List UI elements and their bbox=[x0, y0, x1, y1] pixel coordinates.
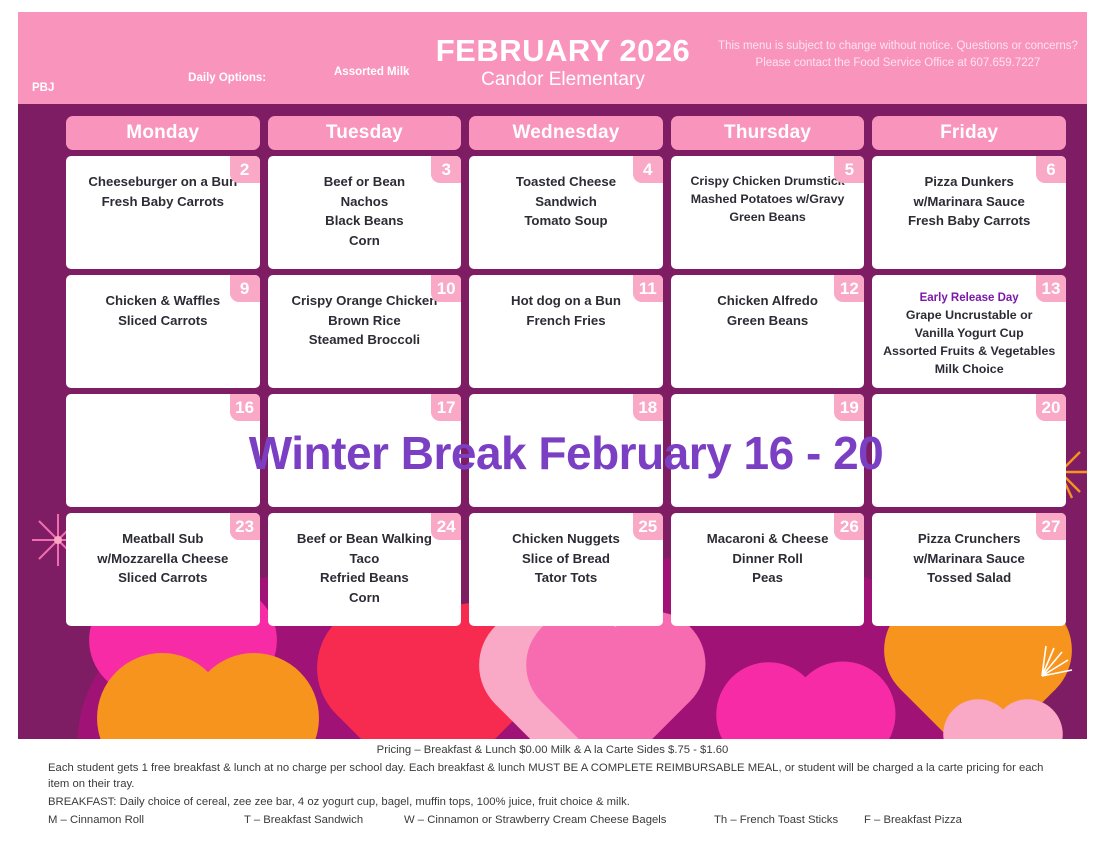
menu-items: Chicken Alfredo Green Beans bbox=[677, 291, 859, 330]
menu-item: Chicken Alfredo bbox=[677, 291, 859, 311]
day-cell-6[interactable]: 6 Pizza Dunkers w/Marinara Sauce Fresh B… bbox=[872, 156, 1066, 269]
date-badge: 16 bbox=[230, 394, 260, 421]
menu-item: w/Marinara Sauce bbox=[878, 549, 1060, 569]
menu-item: Refried Beans bbox=[274, 568, 456, 588]
date-badge: 6 bbox=[1036, 156, 1066, 183]
date-badge: 12 bbox=[834, 275, 864, 302]
page-title: FEBRUARY 2026 Candor Elementary bbox=[418, 34, 708, 92]
menu-item: Assorted Fruits & Vegetables bbox=[878, 342, 1060, 360]
date-badge: 4 bbox=[633, 156, 663, 183]
menu-item: w/Mozzarella Cheese bbox=[72, 549, 254, 569]
menu-item: Beef or Bean Walking bbox=[274, 529, 456, 549]
menu-item: Green Beans bbox=[677, 311, 859, 331]
day-header-monday: Monday bbox=[66, 116, 260, 150]
menu-items: Crispy Orange Chicken Brown Rice Steamed… bbox=[274, 291, 456, 350]
breakfast-wednesday: W – Cinnamon or Strawberry Cream Cheese … bbox=[404, 812, 714, 828]
month-title: FEBRUARY 2026 bbox=[418, 34, 708, 68]
day-cell-20[interactable]: 20 bbox=[872, 394, 1066, 507]
menu-item: Grape Uncrustable or bbox=[878, 306, 1060, 324]
header-left-options: PBJ Yogurt Cup bbox=[32, 48, 94, 104]
menu-item: Peas bbox=[677, 568, 859, 588]
week-row-1: 2 Cheeseburger on a Bun Fresh Baby Carro… bbox=[66, 156, 1066, 269]
date-badge: 10 bbox=[431, 275, 461, 302]
date-badge: 5 bbox=[834, 156, 864, 183]
day-cell-10[interactable]: 10 Crispy Orange Chicken Brown Rice Stea… bbox=[268, 275, 462, 388]
menu-item: Taco bbox=[274, 549, 456, 569]
day-header-row: Monday Tuesday Wednesday Thursday Friday bbox=[66, 116, 1066, 150]
menu-item: Corn bbox=[274, 588, 456, 608]
school-name: Candor Elementary bbox=[418, 68, 708, 92]
date-badge: 3 bbox=[431, 156, 461, 183]
menu-footer: Pricing – Breakfast & Lunch $0.00 Milk &… bbox=[0, 742, 1105, 828]
menu-item: Macaroni & Cheese bbox=[677, 529, 859, 549]
footer-breakfast: BREAKFAST: Daily choice of cereal, zee z… bbox=[0, 794, 1105, 810]
menu-item: Brown Rice bbox=[274, 311, 456, 331]
day-header-tuesday: Tuesday bbox=[268, 116, 462, 150]
menu-item: Steamed Broccoli bbox=[274, 330, 456, 350]
date-badge: 9 bbox=[230, 275, 260, 302]
menu-items: Chicken & Waffles Sliced Carrots bbox=[72, 291, 254, 330]
menu-item: Milk Choice bbox=[878, 360, 1060, 378]
menu-items: Pizza Crunchers w/Marinara Sauce Tossed … bbox=[878, 529, 1060, 588]
day-header-wednesday: Wednesday bbox=[469, 116, 663, 150]
menu-item: Tator Tots bbox=[475, 568, 657, 588]
menu-items: Beef or Bean Walking Taco Refried Beans … bbox=[274, 529, 456, 607]
menu-item: Tossed Salad bbox=[878, 568, 1060, 588]
date-badge: 19 bbox=[834, 394, 864, 421]
menu-items: Grape Uncrustable or Vanilla Yogurt Cup … bbox=[878, 306, 1060, 378]
header-option-pbj: PBJ bbox=[32, 80, 94, 96]
day-cell-5[interactable]: 5 Crispy Chicken Drumstick Mashed Potato… bbox=[671, 156, 865, 269]
date-badge: 11 bbox=[633, 275, 663, 302]
day-cell-25[interactable]: 25 Chicken Nuggets Slice of Bread Tator … bbox=[469, 513, 663, 626]
day-cell-26[interactable]: 26 Macaroni & Cheese Dinner Roll Peas bbox=[671, 513, 865, 626]
day-cell-27[interactable]: 27 Pizza Crunchers w/Marinara Sauce Toss… bbox=[872, 513, 1066, 626]
date-badge: 27 bbox=[1036, 513, 1066, 540]
menu-item: Beef or Bean bbox=[274, 172, 456, 192]
menu-item: Sandwich bbox=[475, 192, 657, 212]
date-badge: 26 bbox=[834, 513, 864, 540]
breakfast-tuesday: T – Breakfast Sandwich bbox=[244, 812, 404, 828]
heart-orange-1 bbox=[116, 672, 300, 739]
menu-item: Green Beans bbox=[677, 208, 859, 226]
menu-item: Sliced Carrots bbox=[72, 568, 254, 588]
menu-item: Slice of Bread bbox=[475, 549, 657, 569]
menu-item: Vanilla Yogurt Cup bbox=[878, 324, 1060, 342]
date-badge: 13 bbox=[1036, 275, 1066, 302]
menu-item: Pizza Dunkers bbox=[878, 172, 1060, 192]
menu-items: Macaroni & Cheese Dinner Roll Peas bbox=[677, 529, 859, 588]
menu-item: Crispy Orange Chicken bbox=[274, 291, 456, 311]
day-header-friday: Friday bbox=[872, 116, 1066, 150]
heart-pink-2 bbox=[541, 627, 689, 739]
date-badge: 2 bbox=[230, 156, 260, 183]
week-row-2: 9 Chicken & Waffles Sliced Carrots 10 Cr… bbox=[66, 275, 1066, 388]
menu-item: Fresh Baby Carrots bbox=[878, 211, 1060, 231]
footer-breakfast-days: M – Cinnamon Roll T – Breakfast Sandwich… bbox=[0, 812, 1105, 828]
day-cell-24[interactable]: 24 Beef or Bean Walking Taco Refried Bea… bbox=[268, 513, 462, 626]
menu-items: Meatball Sub w/Mozzarella Cheese Sliced … bbox=[72, 529, 254, 588]
week-row-4: 23 Meatball Sub w/Mozzarella Cheese Slic… bbox=[66, 513, 1066, 626]
menu-items: Pizza Dunkers w/Marinara Sauce Fresh Bab… bbox=[878, 172, 1060, 231]
heart-pink-small bbox=[954, 710, 1053, 739]
early-release-note: Early Release Day bbox=[878, 291, 1060, 305]
day-cell-12[interactable]: 12 Chicken Alfredo Green Beans bbox=[671, 275, 865, 388]
heart-magenta-2 bbox=[731, 677, 879, 739]
day-cell-13[interactable]: 13 Early Release Day Grape Uncrustable o… bbox=[872, 275, 1066, 388]
menu-header: PBJ Yogurt Cup Daily Options: Assorted S… bbox=[18, 12, 1087, 104]
date-badge: 17 bbox=[431, 394, 461, 421]
date-badge: 24 bbox=[431, 513, 461, 540]
date-badge: 20 bbox=[1036, 394, 1066, 421]
menu-item: Sliced Carrots bbox=[72, 311, 254, 331]
day-header-thursday: Thursday bbox=[671, 116, 865, 150]
daily-options-label: Daily Options: bbox=[130, 70, 324, 86]
breakfast-monday: M – Cinnamon Roll bbox=[48, 812, 244, 828]
menu-item: Pizza Crunchers bbox=[878, 529, 1060, 549]
day-cell-18[interactable]: 18 bbox=[469, 394, 663, 507]
menu-item: Hot dog on a Bun bbox=[475, 291, 657, 311]
sparkle-logo-icon bbox=[1036, 642, 1076, 682]
menu-item: w/Marinara Sauce bbox=[878, 192, 1060, 212]
footer-paragraph: Each student gets 1 free breakfast & lun… bbox=[0, 760, 1105, 792]
menu-item: Chicken & Waffles bbox=[72, 291, 254, 311]
day-cell-4[interactable]: 4 Toasted Cheese Sandwich Tomato Soup bbox=[469, 156, 663, 269]
header-milk-option: Assorted Milk bbox=[334, 64, 409, 80]
menu-page: PBJ Yogurt Cup Daily Options: Assorted S… bbox=[0, 0, 1105, 853]
menu-notice: This menu is subject to change without n… bbox=[718, 38, 1078, 72]
calendar-grid: Monday Tuesday Wednesday Thursday Friday… bbox=[66, 116, 1066, 632]
menu-item: Toasted Cheese bbox=[475, 172, 657, 192]
breakfast-friday: F – Breakfast Pizza bbox=[864, 812, 962, 828]
menu-item: Fresh Baby Carrots bbox=[72, 192, 254, 212]
day-cell-11[interactable]: 11 Hot dog on a Bun French Fries bbox=[469, 275, 663, 388]
week-row-3: 16 17 18 19 20 bbox=[66, 394, 1066, 507]
day-cell-2[interactable]: 2 Cheeseburger on a Bun Fresh Baby Carro… bbox=[66, 156, 260, 269]
menu-item: Nachos bbox=[274, 192, 456, 212]
day-cell-3[interactable]: 3 Beef or Bean Nachos Black Beans Corn bbox=[268, 156, 462, 269]
menu-item: French Fries bbox=[475, 311, 657, 331]
menu-item: Corn bbox=[274, 231, 456, 251]
menu-item: Cheeseburger on a Bun bbox=[72, 172, 254, 192]
menu-item: Mashed Potatoes w/Gravy bbox=[677, 190, 859, 208]
menu-item: Dinner Roll bbox=[677, 549, 859, 569]
menu-items: Hot dog on a Bun French Fries bbox=[475, 291, 657, 330]
menu-item: Crispy Chicken Drumstick bbox=[677, 172, 859, 190]
calendar-body: Monday Tuesday Wednesday Thursday Friday… bbox=[18, 104, 1087, 739]
day-cell-9[interactable]: 9 Chicken & Waffles Sliced Carrots bbox=[66, 275, 260, 388]
day-cell-16[interactable]: 16 bbox=[66, 394, 260, 507]
day-cell-23[interactable]: 23 Meatball Sub w/Mozzarella Cheese Slic… bbox=[66, 513, 260, 626]
menu-items: Chicken Nuggets Slice of Bread Tator Tot… bbox=[475, 529, 657, 588]
menu-item: Black Beans bbox=[274, 211, 456, 231]
menu-items: Cheeseburger on a Bun Fresh Baby Carrots bbox=[72, 172, 254, 211]
day-cell-17[interactable]: 17 bbox=[268, 394, 462, 507]
menu-items: Toasted Cheese Sandwich Tomato Soup bbox=[475, 172, 657, 231]
breakfast-thursday: Th – French Toast Sticks bbox=[714, 812, 864, 828]
menu-item: Tomato Soup bbox=[475, 211, 657, 231]
footer-pricing: Pricing – Breakfast & Lunch $0.00 Milk &… bbox=[0, 742, 1105, 758]
header-daily-options: Daily Options: Assorted Subs Assorted Fr… bbox=[130, 38, 324, 104]
menu-item: Chicken Nuggets bbox=[475, 529, 657, 549]
date-badge: 23 bbox=[230, 513, 260, 540]
menu-item: Meatball Sub bbox=[72, 529, 254, 549]
date-badge: 25 bbox=[633, 513, 663, 540]
menu-items: Crispy Chicken Drumstick Mashed Potatoes… bbox=[677, 172, 859, 226]
date-badge: 18 bbox=[633, 394, 663, 421]
menu-items: Beef or Bean Nachos Black Beans Corn bbox=[274, 172, 456, 250]
day-cell-19[interactable]: 19 bbox=[671, 394, 865, 507]
